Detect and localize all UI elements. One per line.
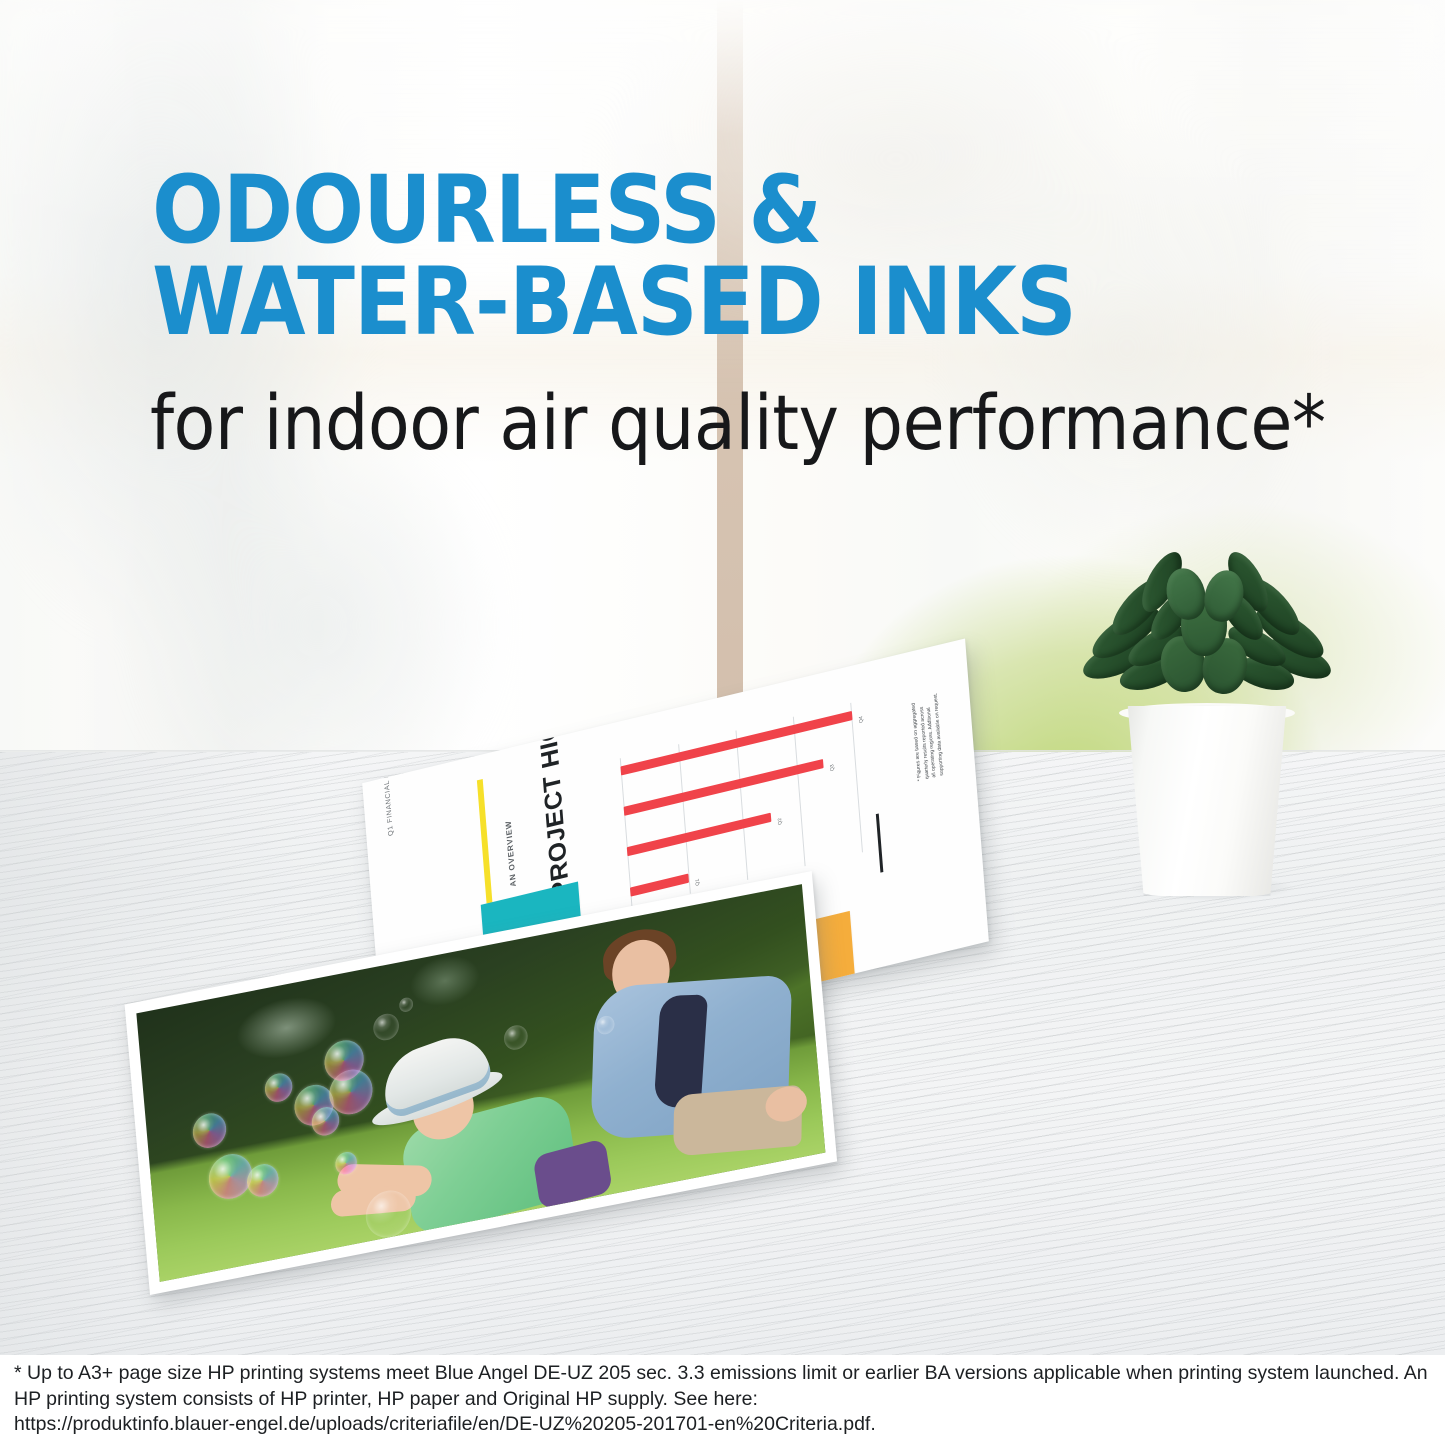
- soap-bubble: [372, 1012, 400, 1043]
- doc-note: * Figures are based on aggregated quarte…: [910, 690, 946, 782]
- soap-bubble: [503, 1023, 529, 1052]
- doc-overline: AN OVERVIEW: [504, 820, 518, 888]
- chart-bar: [630, 874, 689, 897]
- chart-gridline: [620, 758, 633, 908]
- ceramic-pot: [1119, 706, 1295, 896]
- footnote-line-2: HP printing system consists of HP printe…: [14, 1387, 1434, 1413]
- chart-tick-label: Q3: [829, 764, 835, 772]
- footnote-url[interactable]: https://produktinfo.blauer-engel.de/uplo…: [14, 1412, 1434, 1438]
- chart-bar: [627, 813, 772, 857]
- potted-succulent: [1063, 540, 1363, 900]
- printed-photo: [150, 1005, 970, 1355]
- chart-tick-label: Q4: [858, 715, 864, 723]
- chart-gridline: [736, 730, 749, 880]
- photo-adult-vest: [653, 994, 708, 1108]
- bar-chart: Q4 Q3 Q2 Q1: [620, 703, 863, 908]
- soap-bubble: [191, 1110, 227, 1151]
- scene-stage: ODOURLESS & WATER-BASED INKS for indoor …: [0, 0, 1445, 1445]
- page-subheadline: for indoor air quality performance*: [150, 385, 1400, 461]
- chart-tick-label: Q2: [777, 817, 783, 825]
- chart-tick-label: Q1: [695, 878, 701, 886]
- note-rule: [876, 813, 884, 872]
- chart-gridline: [793, 717, 806, 867]
- footnote-line-1: * Up to A3+ page size HP printing system…: [14, 1361, 1434, 1387]
- soap-bubble: [399, 996, 414, 1013]
- footnote-block: * Up to A3+ page size HP printing system…: [14, 1361, 1434, 1438]
- chart-gridline: [850, 703, 863, 853]
- page-headline: ODOURLESS & WATER-BASED INKS: [152, 165, 1382, 349]
- chart-gridline: [678, 744, 691, 894]
- soap-bubble: [264, 1071, 294, 1104]
- accent-rule: [477, 779, 493, 904]
